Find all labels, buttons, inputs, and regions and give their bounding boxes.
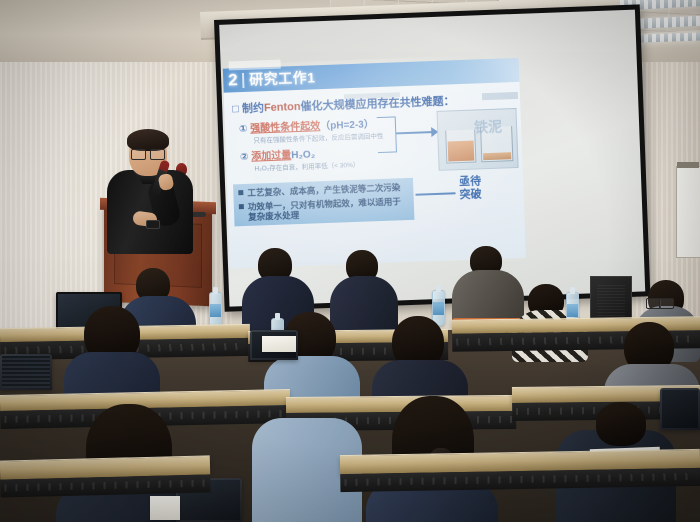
slide-breakthrough-callout: 亟待 突破 xyxy=(459,175,482,201)
slide-item-2-marker: ② xyxy=(240,152,249,163)
slide-callout-box: 工艺复杂、成本高，产生铁泥等二次污染 功效单一，只对有机物起效，难以适用于复杂废… xyxy=(233,178,414,227)
slide-item-2-rest: H₂O₂ xyxy=(291,149,315,161)
audience-head xyxy=(596,402,646,446)
beaker-left xyxy=(445,130,476,164)
slide-title-divider xyxy=(242,72,245,87)
whiteboard-tray xyxy=(677,162,699,168)
slide-heading: □ 制约Fenton催化大规模应用存在共性难题： xyxy=(232,92,455,116)
laptop xyxy=(0,354,52,390)
wristwatch-icon xyxy=(146,220,160,229)
slide-tab-decoration xyxy=(229,60,281,71)
presenter xyxy=(107,132,193,252)
slide-item-1-marker: ① xyxy=(239,124,248,135)
paper-handout xyxy=(150,496,180,520)
slide-corner-note xyxy=(482,92,518,100)
slide-arrow-line xyxy=(395,131,435,134)
glasses-icon xyxy=(131,149,165,158)
beaker-photo: 铁泥 xyxy=(436,108,518,171)
desk-row-3 xyxy=(0,455,210,479)
slide-heading-keyword: Fenton xyxy=(264,101,301,114)
water-bottle xyxy=(209,292,222,328)
presenter-hair xyxy=(127,129,169,151)
whiteboard xyxy=(676,166,700,258)
slide-title: 研究工作1 xyxy=(249,67,316,89)
slide-bracket xyxy=(377,116,397,153)
slide-body: □ 制约Fenton催化大规模应用存在共性难题： ① 强酸性条件起效（pH=2-… xyxy=(224,82,526,269)
beaker-photo-watermark: 铁泥 xyxy=(474,120,502,135)
slide-heading-prefix: □ 制约 xyxy=(232,102,264,115)
slide-callout-row: 功效单一，只对有机物起效，难以适用于复杂废水处理 xyxy=(239,196,410,223)
glasses-icon xyxy=(646,298,674,306)
slide-number: 2 xyxy=(223,70,238,90)
paper-handout xyxy=(262,336,296,352)
presentation-room-photo: 2 研究工作1 □ 制约Fenton催化大规模应用存在共性难题： ① 强酸性条件… xyxy=(0,0,700,522)
slide-arrow-line-lower xyxy=(416,192,456,195)
slide-callout-text: 功效单一，只对有机物起效，难以适用于复杂废水处理 xyxy=(248,196,410,223)
breakthrough-line-2: 突破 xyxy=(459,188,481,201)
square-bullet-icon xyxy=(239,204,244,209)
presentation-slide: 2 研究工作1 □ 制约Fenton催化大规模应用存在共性难题： ① 强酸性条件… xyxy=(223,58,526,269)
breakthrough-line-1: 亟待 xyxy=(459,175,481,188)
audience-body xyxy=(330,276,398,334)
slide-heading-suffix: 催化大规模应用存在共性难题： xyxy=(300,95,454,113)
square-bullet-icon xyxy=(238,190,243,195)
laptop xyxy=(660,388,700,430)
